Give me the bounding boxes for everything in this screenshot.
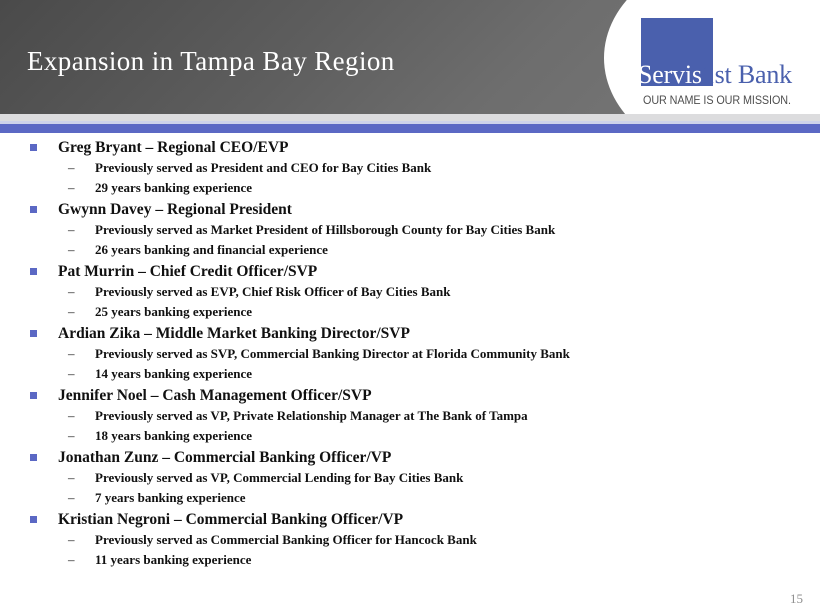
square-bullet-icon (30, 144, 37, 151)
list-item: Ardian Zika – Middle Market Banking Dire… (0, 323, 820, 384)
person-detail-label: Previously served as Market President of… (95, 222, 555, 237)
dash-bullet-icon: – (68, 406, 75, 426)
dash-bullet-icon: – (68, 550, 75, 570)
person-detail: – Previously served as SVP, Commercial B… (0, 344, 820, 364)
person-heading-label: Pat Murrin – Chief Credit Officer/SVP (58, 263, 317, 280)
list-item: Jennifer Noel – Cash Management Officer/… (0, 385, 820, 446)
square-bullet-icon (30, 454, 37, 461)
dash-bullet-icon: – (68, 426, 75, 446)
dash-bullet-icon: – (68, 344, 75, 364)
person-detail: – 7 years banking experience (0, 488, 820, 508)
dash-bullet-icon: – (68, 158, 75, 178)
person-detail-label: 29 years banking experience (95, 180, 252, 195)
person-detail: – Previously served as EVP, Chief Risk O… (0, 282, 820, 302)
person-heading: Greg Bryant – Regional CEO/EVP (0, 137, 820, 158)
person-heading: Gwynn Davey – Regional President (0, 199, 820, 220)
square-bullet-icon (30, 206, 37, 213)
person-heading-label: Greg Bryant – Regional CEO/EVP (58, 139, 289, 156)
person-detail-label: Previously served as SVP, Commercial Ban… (95, 346, 570, 361)
dash-bullet-icon: – (68, 178, 75, 198)
list-item: Kristian Negroni – Commercial Banking Of… (0, 509, 820, 570)
slide: Expansion in Tampa Bay Region Servis1st … (0, 0, 820, 615)
dash-bullet-icon: – (68, 220, 75, 240)
person-heading-label: Jonathan Zunz – Commercial Banking Offic… (58, 449, 391, 466)
person-detail-label: 14 years banking experience (95, 366, 252, 381)
logo-word-primary: Servis (638, 60, 702, 89)
logo-wordmark: Servis1st Bank (638, 60, 792, 90)
slide-body: Greg Bryant – Regional CEO/EVP – Previou… (0, 137, 820, 577)
person-detail-label: Previously served as VP, Commercial Lend… (95, 470, 463, 485)
person-heading: Jonathan Zunz – Commercial Banking Offic… (0, 447, 820, 468)
square-bullet-icon (30, 268, 37, 275)
person-detail: – 11 years banking experience (0, 550, 820, 570)
dash-bullet-icon: – (68, 302, 75, 322)
person-detail: – Previously served as VP, Commercial Le… (0, 468, 820, 488)
divider-bar-blue (0, 124, 820, 133)
divider-bar-light-gray (0, 114, 820, 121)
dash-bullet-icon: – (68, 468, 75, 488)
person-detail-label: 11 years banking experience (95, 552, 251, 567)
square-bullet-icon (30, 392, 37, 399)
person-heading-label: Kristian Negroni – Commercial Banking Of… (58, 511, 403, 528)
person-detail: – 18 years banking experience (0, 426, 820, 446)
person-detail-label: 7 years banking experience (95, 490, 246, 505)
dash-bullet-icon: – (68, 488, 75, 508)
list-item: Gwynn Davey – Regional President – Previ… (0, 199, 820, 260)
person-heading: Jennifer Noel – Cash Management Officer/… (0, 385, 820, 406)
dash-bullet-icon: – (68, 530, 75, 550)
square-bullet-icon (30, 330, 37, 337)
person-heading-label: Gwynn Davey – Regional President (58, 201, 292, 218)
dash-bullet-icon: – (68, 240, 75, 260)
logo-tagline: OUR NAME IS OUR MISSION. (643, 94, 791, 108)
person-detail-label: Previously served as President and CEO f… (95, 160, 431, 175)
person-detail-label: 18 years banking experience (95, 428, 252, 443)
person-heading-label: Jennifer Noel – Cash Management Officer/… (58, 387, 372, 404)
page-number: 15 (790, 591, 803, 607)
person-detail: – 29 years banking experience (0, 178, 820, 198)
list-item: Pat Murrin – Chief Credit Officer/SVP – … (0, 261, 820, 322)
person-detail: – Previously served as VP, Private Relat… (0, 406, 820, 426)
person-detail-label: Previously served as Commercial Banking … (95, 532, 477, 547)
person-heading-label: Ardian Zika – Middle Market Banking Dire… (58, 325, 410, 342)
person-detail: – Previously served as Commercial Bankin… (0, 530, 820, 550)
person-heading: Pat Murrin – Chief Credit Officer/SVP (0, 261, 820, 282)
page-title: Expansion in Tampa Bay Region (27, 44, 395, 78)
person-detail-label: 25 years banking experience (95, 304, 252, 319)
square-bullet-icon (30, 516, 37, 523)
person-detail-label: Previously served as VP, Private Relatio… (95, 408, 528, 423)
person-detail-label: Previously served as EVP, Chief Risk Off… (95, 284, 450, 299)
list-item: Greg Bryant – Regional CEO/EVP – Previou… (0, 137, 820, 198)
list-item: Jonathan Zunz – Commercial Banking Offic… (0, 447, 820, 508)
person-heading: Ardian Zika – Middle Market Banking Dire… (0, 323, 820, 344)
person-detail: – 25 years banking experience (0, 302, 820, 322)
dash-bullet-icon: – (68, 282, 75, 302)
person-detail: – Previously served as President and CEO… (0, 158, 820, 178)
person-detail: – 14 years banking experience (0, 364, 820, 384)
person-detail-label: 26 years banking and financial experienc… (95, 242, 328, 257)
person-detail: – Previously served as Market President … (0, 220, 820, 240)
dash-bullet-icon: – (68, 364, 75, 384)
person-detail: – 26 years banking and financial experie… (0, 240, 820, 260)
person-heading: Kristian Negroni – Commercial Banking Of… (0, 509, 820, 530)
logo-word-secondary: 1st Bank (702, 60, 792, 89)
